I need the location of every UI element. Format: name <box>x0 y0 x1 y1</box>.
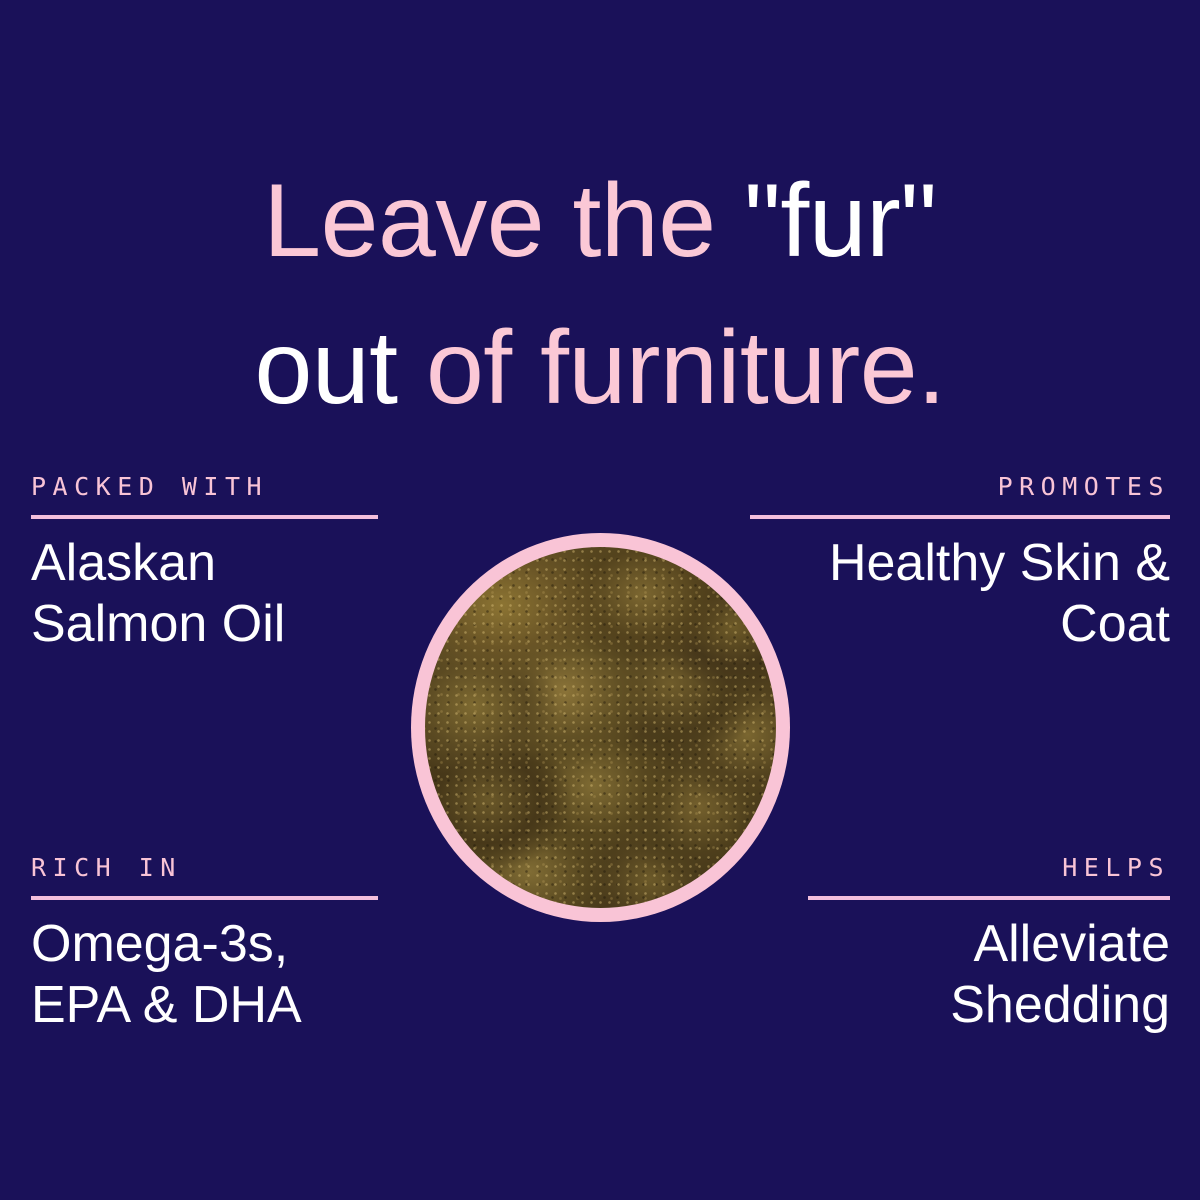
feature-divider <box>750 515 1170 519</box>
feature-rich-in: RICH IN Omega-3s, EPA & DHA <box>31 855 378 1036</box>
page-headline: Leave the "fur" out of furniture. <box>0 148 1200 443</box>
kibble-photo <box>425 547 776 908</box>
feature-divider <box>31 515 378 519</box>
headline-line-1: Leave the "fur" <box>0 148 1200 296</box>
feature-kicker: RICH IN <box>31 855 378 880</box>
feature-divider <box>808 896 1170 900</box>
feature-promotes: PROMOTES Healthy Skin & Coat <box>750 474 1170 655</box>
feature-value: Omega-3s, EPA & DHA <box>31 914 378 1036</box>
feature-value-line-1: Alleviate <box>808 914 1170 975</box>
kibble-speckle-texture <box>425 547 776 908</box>
headline-line-2-pink: of furniture. <box>398 310 946 426</box>
feature-value: Alaskan Salmon Oil <box>31 533 378 655</box>
feature-value-line-2: Shedding <box>808 975 1170 1036</box>
feature-value: Alleviate Shedding <box>808 914 1170 1036</box>
feature-helps: HELPS Alleviate Shedding <box>808 855 1170 1036</box>
feature-kicker: HELPS <box>808 855 1170 880</box>
feature-value-line-2: EPA & DHA <box>31 975 378 1036</box>
headline-line-1-pink: Leave the <box>263 163 744 279</box>
feature-kicker: PACKED WITH <box>31 474 378 499</box>
feature-value-line-2: Salmon Oil <box>31 594 378 655</box>
product-image-circle <box>411 533 790 922</box>
feature-value-line-2: Coat <box>750 594 1170 655</box>
feature-value-line-1: Healthy Skin & <box>750 533 1170 594</box>
product-benefits-poster: Leave the "fur" out of furniture. PACKED… <box>0 0 1200 1200</box>
feature-packed-with: PACKED WITH Alaskan Salmon Oil <box>31 474 378 655</box>
headline-line-2: out of furniture. <box>0 295 1200 443</box>
feature-value-line-1: Alaskan <box>31 533 378 594</box>
headline-line-2-white: out <box>254 310 397 426</box>
feature-value-line-1: Omega-3s, <box>31 914 378 975</box>
feature-divider <box>31 896 378 900</box>
headline-line-1-white: "fur" <box>744 163 937 279</box>
feature-kicker: PROMOTES <box>750 474 1170 499</box>
feature-value: Healthy Skin & Coat <box>750 533 1170 655</box>
